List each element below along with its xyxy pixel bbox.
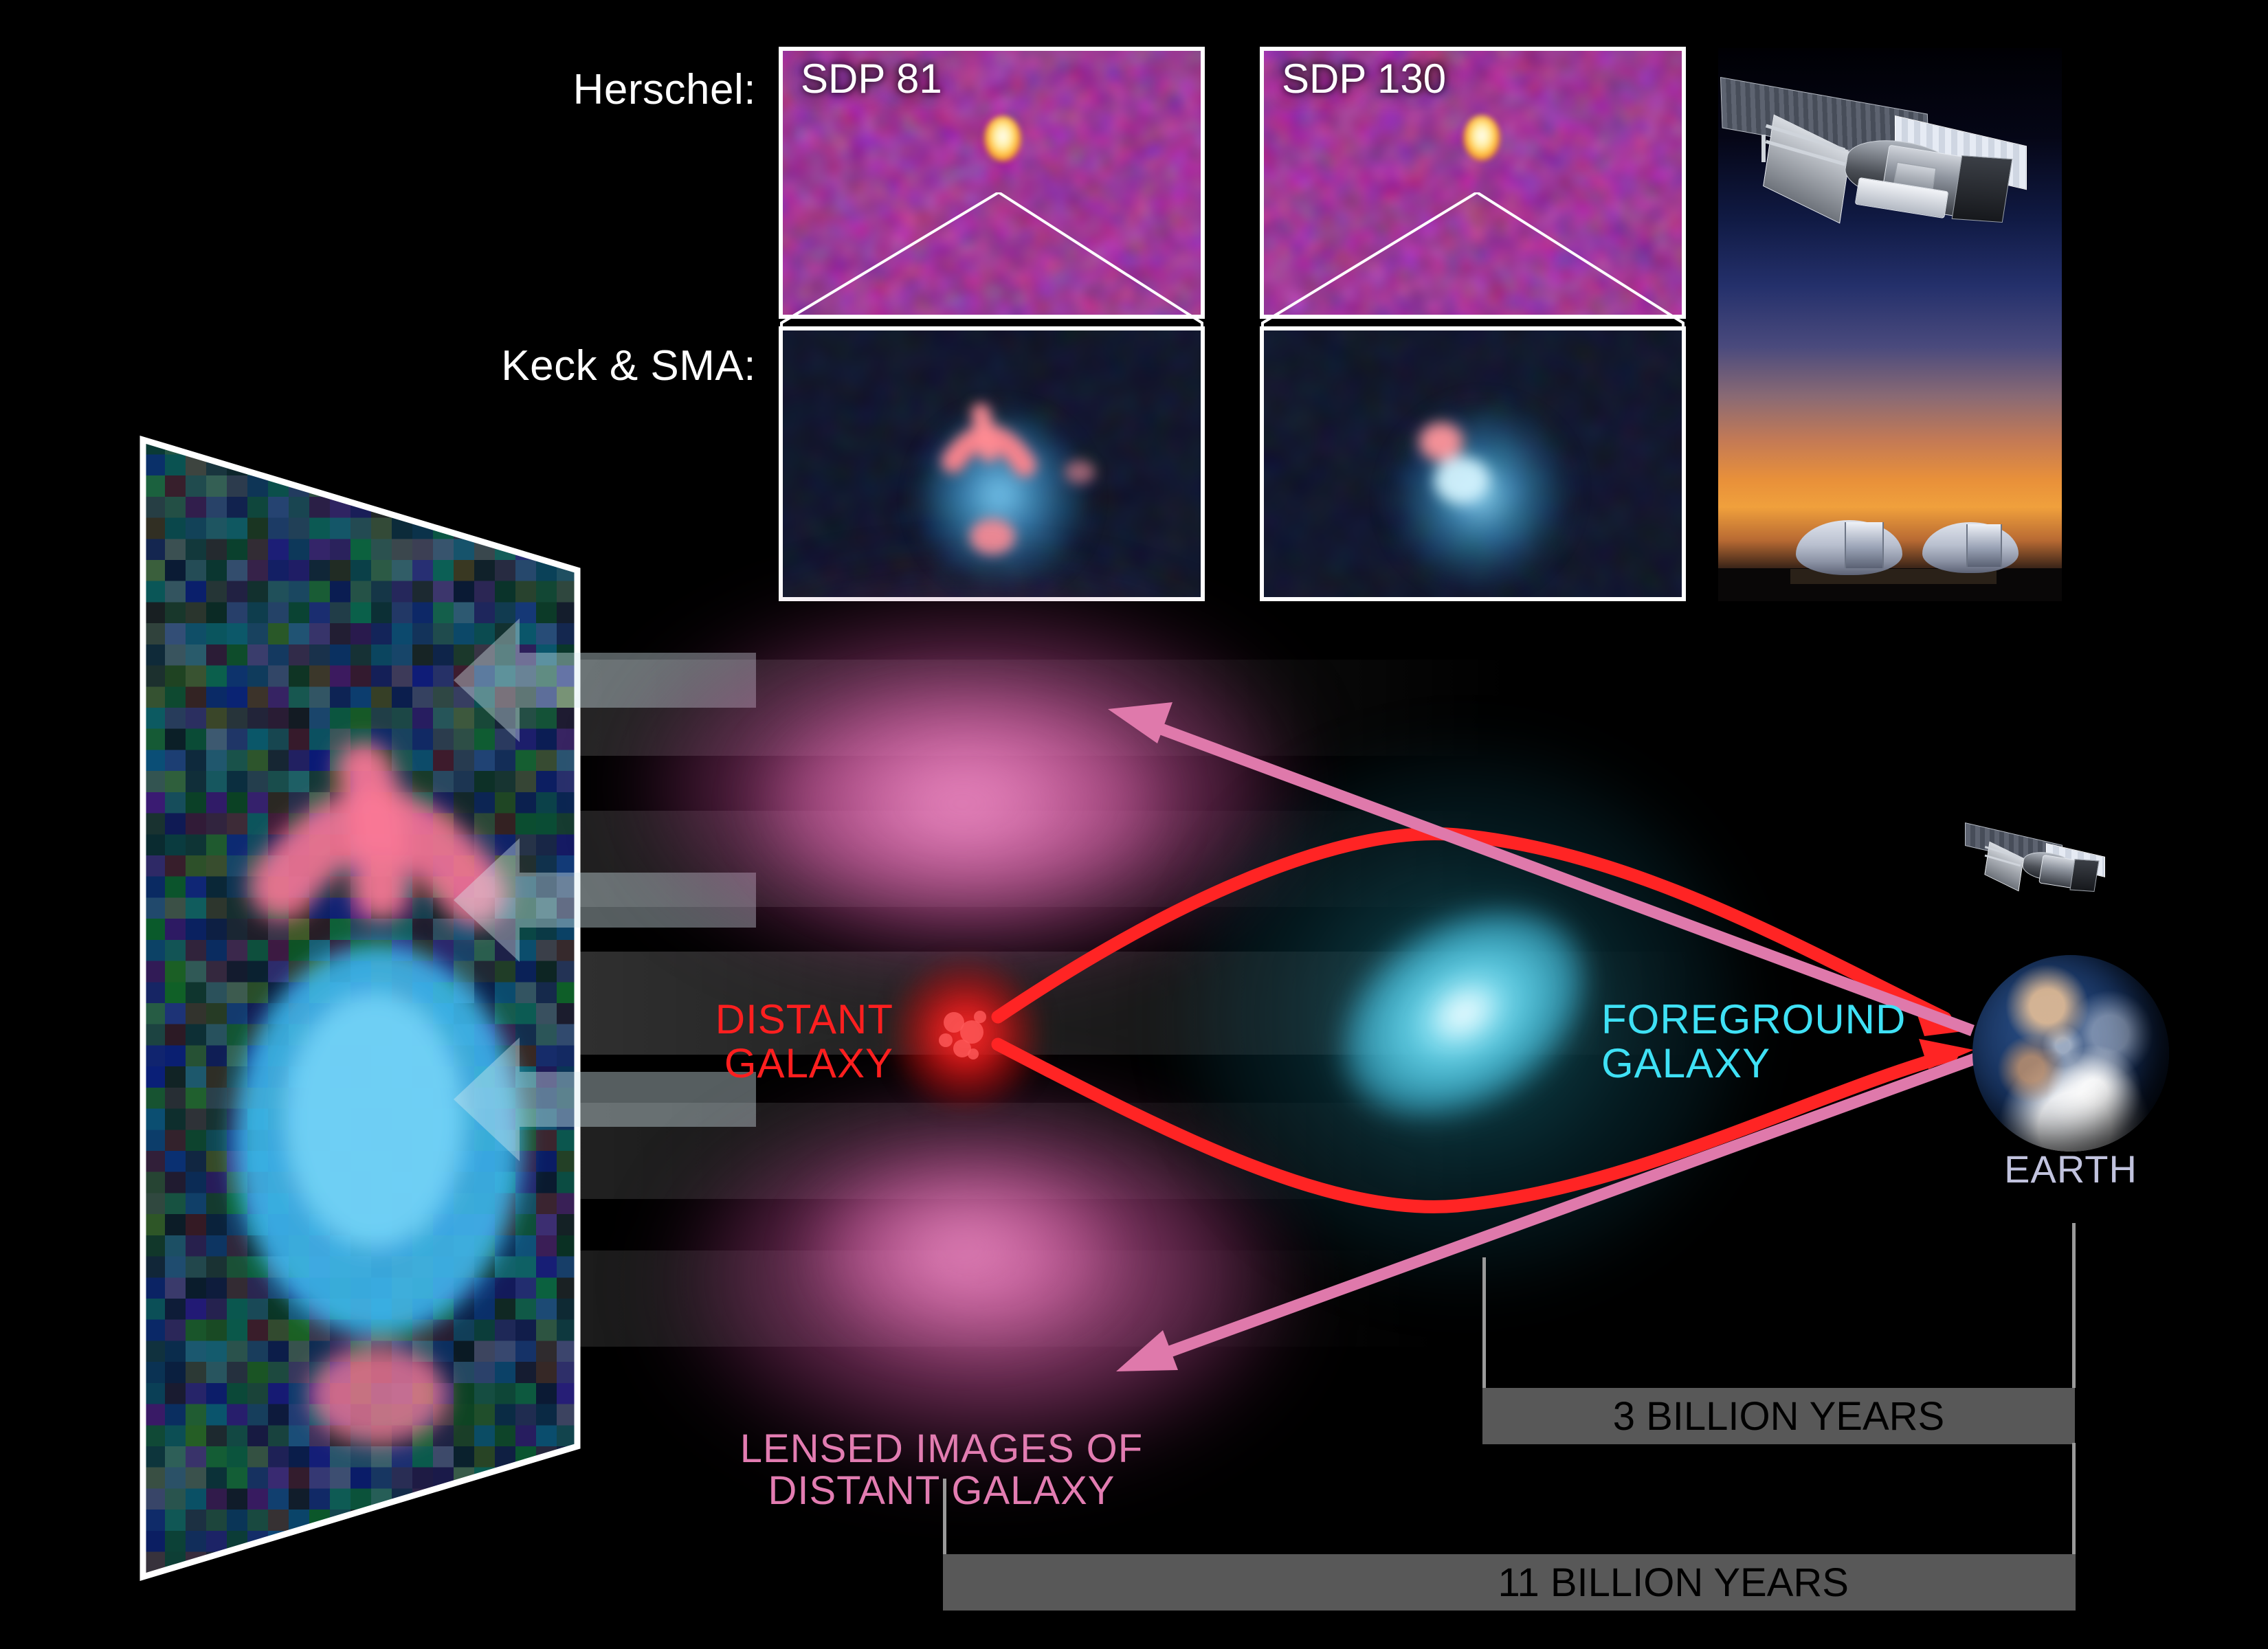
- earth[interactable]: [1972, 955, 2169, 1152]
- distant-galaxy-texture: [914, 983, 1017, 1086]
- foreground-galaxy-label: FOREGROUND GALAXY: [1601, 998, 1890, 1085]
- projection-arrows: [454, 605, 756, 1347]
- timeline-bar-11by-label: 11 BILLION YEARS: [1498, 1560, 2076, 1606]
- timeline-tick-11by-left: [943, 1479, 946, 1554]
- herschel-noise-field: [779, 47, 1205, 319]
- keck-lensed-arc-sdp81: [783, 330, 1205, 601]
- lensed-images-label: LENSED IMAGES OF DISTANT GALAXY: [729, 1428, 1155, 1512]
- herschel-noise-field: [1260, 47, 1686, 319]
- keck-lensed-blob-sdp130: [1264, 330, 1686, 601]
- herschel-satellite: [1718, 62, 2038, 289]
- keck-dome-right: [1922, 522, 2019, 573]
- timeline-bar-3-billion-years: 3 BILLION YEARS: [1482, 1388, 2075, 1444]
- timeline-bar-3by-label: 3 BILLION YEARS: [1482, 1393, 2075, 1439]
- timeline-tick-3by-right: [2072, 1223, 2076, 1388]
- figure-canvas: Herschel: Keck & SMA: SDP 81 SDP 130: [0, 0, 2268, 1649]
- red-ray-upper-arrowhead: [1915, 1007, 1968, 1036]
- panel-keck-sdp130[interactable]: [1260, 326, 1686, 601]
- row-label-keck-sma: Keck & SMA:: [371, 341, 756, 390]
- timeline-tick-11by-right: [2072, 1443, 2076, 1554]
- panel-herschel-sdp81[interactable]: SDP 81: [779, 47, 1205, 319]
- herschel-satellite-small: [1962, 814, 2106, 921]
- red-ray-lower-arrowhead: [1919, 1039, 1974, 1069]
- panel-keck-sdp81[interactable]: [779, 326, 1205, 601]
- timeline-tick-3by-left: [1482, 1257, 1486, 1388]
- herschel-over-keck-photo: [1718, 48, 2062, 601]
- herschel-point-source-sdp81: [984, 116, 1021, 161]
- panel-herschel-sdp130[interactable]: SDP 130: [1260, 47, 1686, 319]
- herschel-point-source-sdp130: [1463, 115, 1500, 161]
- timeline-bar-11-billion-years: 11 BILLION YEARS: [943, 1554, 2076, 1611]
- distant-galaxy-label: DISTANT GALAXY: [687, 998, 893, 1085]
- row-label-herschel: Herschel:: [371, 65, 756, 114]
- keck-dome-left: [1796, 520, 1902, 575]
- earth-label: EARTH: [1966, 1149, 2176, 1189]
